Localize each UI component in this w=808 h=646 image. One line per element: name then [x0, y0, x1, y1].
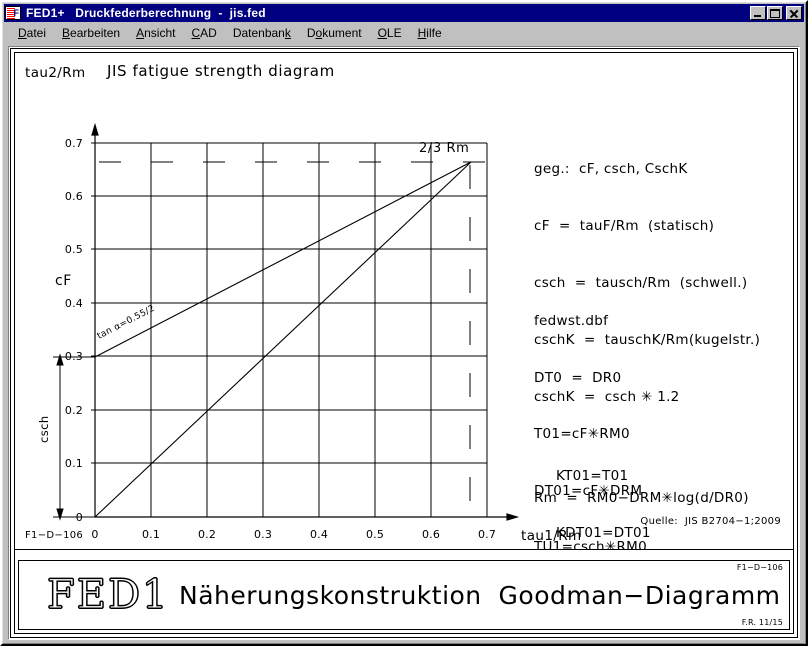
- y-tick-0.4: 0.4: [65, 297, 83, 310]
- menu-item-datei[interactable]: Datei: [10, 25, 54, 41]
- formula-block-shotpeened: KT01=T01 KDT01=DT01 KTU1=cschK✳RM0 KDTU1…: [556, 430, 704, 550]
- minimize-icon: [754, 15, 761, 17]
- y-tick-0: 0: [76, 511, 83, 524]
- annotation-two-thirds-rm: 2/3 Rm: [419, 141, 469, 156]
- menu-item-ansicht[interactable]: Ansicht: [128, 25, 183, 41]
- annotation-cf: cF: [55, 273, 72, 289]
- x-tick-0.7: 0.7: [478, 528, 496, 541]
- menu-item-bearbeiten[interactable]: Bearbeiten: [54, 25, 128, 41]
- title-block-subtitle: Näherungskonstruktion Goodman−Diagramm: [179, 581, 781, 611]
- drawing-doc-id: F1−D−106: [25, 530, 83, 541]
- y-tick-0.3: 0.3: [65, 350, 83, 363]
- title-block-doc-id: F1−D−106: [737, 563, 783, 572]
- y-tick-0.7: 0.7: [65, 137, 83, 150]
- menu-bar: Datei Bearbeiten Ansicht CAD Datenbank D…: [4, 23, 804, 42]
- window-controls: [749, 6, 804, 20]
- x-tick-0.5: 0.5: [366, 528, 384, 541]
- fed-app-icon: F: [5, 6, 21, 20]
- chart-title: JIS fatigue strength diagram: [106, 62, 335, 80]
- drawing-area: tau2/Rm JIS fatigue strength diagram tau…: [15, 53, 793, 550]
- y-tick-0.6: 0.6: [65, 190, 83, 203]
- y-tick-0.1: 0.1: [65, 457, 83, 470]
- formula-line: cF = tauF/Rm (statisch): [534, 216, 760, 237]
- y-tick-0.5: 0.5: [65, 243, 83, 256]
- x-tick-0.1: 0.1: [142, 528, 160, 541]
- formula-line: DT0 = DR0: [534, 368, 664, 389]
- title-block-frame: F1−D−106 FED1 Näherungskonstruktion Good…: [18, 560, 790, 630]
- x-tick-0: 0: [91, 528, 98, 541]
- close-button[interactable]: [786, 6, 802, 20]
- menu-item-cad[interactable]: CAD: [183, 25, 224, 41]
- y-tick-labels: 0.7 0.6 0.5 0.4 0.3 0.2 0.1 0: [65, 137, 83, 524]
- application-window: F FED1+ Druckfederberechnung - jis.fed D…: [0, 0, 808, 646]
- title-block-revision: F.R. 11/15: [742, 618, 783, 627]
- menu-item-dokument[interactable]: Dokument: [299, 25, 370, 41]
- cad-drawing-sheet[interactable]: tau2/Rm JIS fatigue strength diagram tau…: [8, 46, 800, 640]
- annotation-slope: tan α=0.55/2: [96, 304, 157, 342]
- fed1-logo: FED1: [47, 575, 169, 615]
- sheet-frame: tau2/Rm JIS fatigue strength diagram tau…: [14, 52, 794, 634]
- menu-item-datenbank[interactable]: Datenbank: [225, 25, 299, 41]
- drawing-source-note: Quelle: JIS B2704−1;2009: [640, 516, 781, 527]
- x-tick-0.2: 0.2: [198, 528, 216, 541]
- menu-item-ole[interactable]: OLE: [370, 25, 410, 41]
- fed-icon-letter: F: [14, 8, 20, 19]
- sheet-border: tau2/Rm JIS fatigue strength diagram tau…: [10, 48, 798, 638]
- y-tick-0.2: 0.2: [65, 404, 83, 417]
- x-tick-0.3: 0.3: [254, 528, 272, 541]
- annotation-csch: csch: [37, 415, 51, 443]
- menu-item-hilfe[interactable]: Hilfe: [410, 25, 450, 41]
- x-tick-0.6: 0.6: [422, 528, 440, 541]
- window-title: FED1+ Druckfederberechnung - jis.fed: [26, 6, 266, 20]
- formula-line: fedwst.dbf: [534, 311, 664, 332]
- formula-line: geg.: cF, csch, CschK: [534, 159, 760, 180]
- maximize-button[interactable]: [767, 6, 783, 20]
- formula-line: KT01=T01: [556, 466, 704, 487]
- minimize-button[interactable]: [750, 6, 766, 20]
- y-axis-label: tau2/Rm: [25, 65, 86, 81]
- drawing-title-block: F1−D−106 FED1 Näherungskonstruktion Good…: [15, 557, 793, 633]
- x-tick-0.4: 0.4: [310, 528, 328, 541]
- maximize-icon-bar: [770, 9, 780, 11]
- title-bar: F FED1+ Druckfederberechnung - jis.fed: [4, 4, 804, 22]
- x-tick-labels: 0 0.1 0.2 0.3 0.4 0.5 0.6 0.7: [91, 528, 496, 541]
